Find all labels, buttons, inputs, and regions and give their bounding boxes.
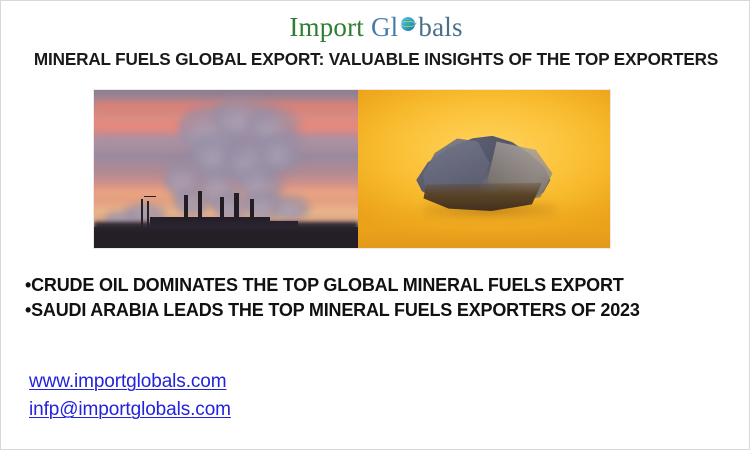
transmission-pylon-silhouette bbox=[144, 196, 156, 198]
brand-logo[interactable]: Import Gl bals bbox=[1, 10, 750, 44]
smoke-plume bbox=[174, 186, 212, 216]
website-link[interactable]: www.importglobals.com bbox=[29, 368, 226, 396]
list-item-label: SAUDI ARABIA LEADS THE TOP MINERAL FUELS… bbox=[31, 299, 640, 320]
globe-icon bbox=[398, 13, 418, 33]
power-plant-smokestacks-at-sunset-photo bbox=[94, 90, 358, 248]
smoke-plume bbox=[272, 194, 312, 220]
email-link[interactable]: infp@importglobals.com bbox=[29, 396, 231, 424]
brand-name-bals: bals bbox=[418, 10, 462, 44]
list-item: •CRUDE OIL DOMINATES THE TOP GLOBAL MINE… bbox=[25, 272, 724, 297]
list-item: •SAUDI ARABIA LEADS THE TOP MINERAL FUEL… bbox=[25, 297, 724, 322]
image-band bbox=[93, 89, 611, 249]
brand-name-gl: Gl bbox=[371, 10, 398, 44]
list-item-label: CRUDE OIL DOMINATES THE TOP GLOBAL MINER… bbox=[31, 274, 623, 295]
ground-silhouette bbox=[94, 227, 358, 248]
smoke-plume bbox=[260, 130, 304, 172]
slide-page: Import Gl bals MINERAL FUELS GLOBAL EXPO… bbox=[0, 0, 750, 450]
contact-block: www.importglobals.com infp@importglobals… bbox=[29, 368, 231, 424]
coal-lump-on-yellow-background-photo bbox=[358, 90, 610, 248]
brand-name-spacer bbox=[364, 10, 371, 44]
key-insights-list: •CRUDE OIL DOMINATES THE TOP GLOBAL MINE… bbox=[25, 272, 735, 322]
page-title: MINERAL FUELS GLOBAL EXPORT: VALUABLE IN… bbox=[7, 49, 746, 70]
brand-name-import: Import bbox=[289, 10, 364, 44]
